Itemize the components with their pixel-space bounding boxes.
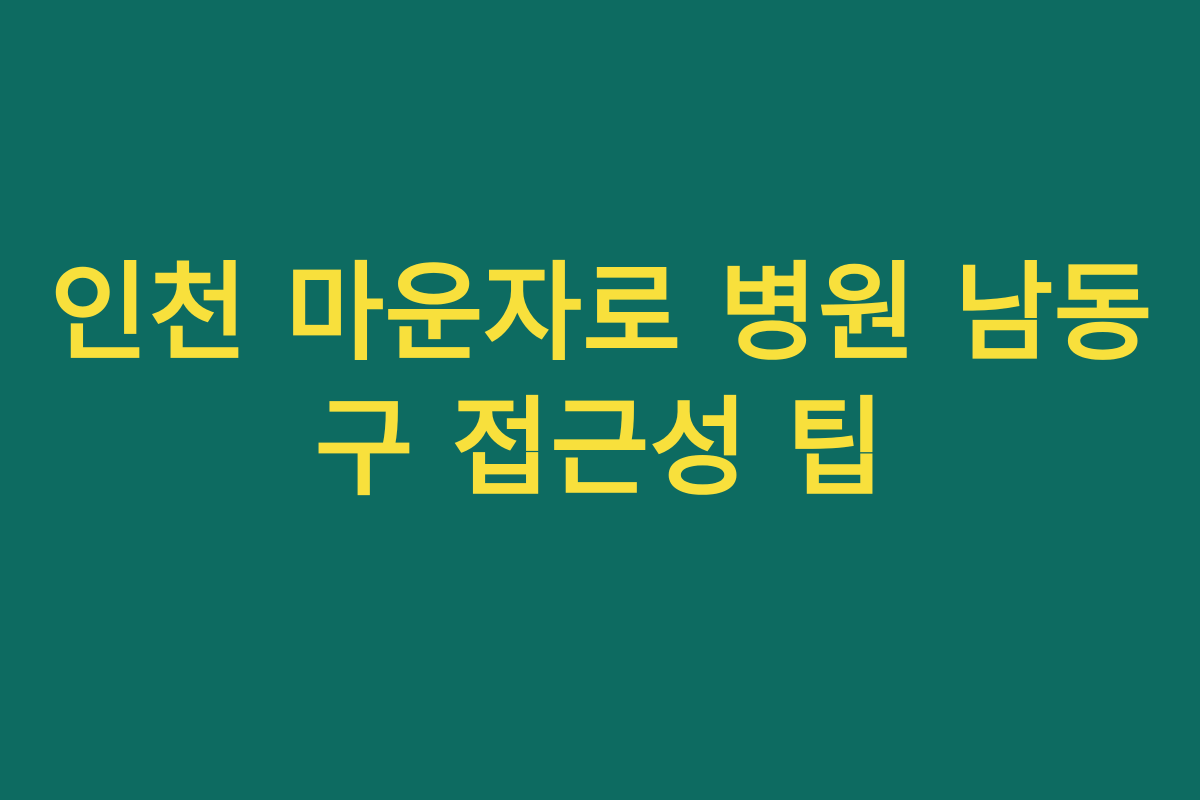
banner-card: 인천 마운자로 병원 남동 구 접근성 팁 xyxy=(0,0,1200,800)
banner-title-line-1: 인천 마운자로 병원 남동 xyxy=(50,247,1150,382)
banner-title: 인천 마운자로 병원 남동 구 접근성 팁 xyxy=(50,247,1150,517)
banner-title-line-2: 구 접근성 팁 xyxy=(50,382,1150,517)
